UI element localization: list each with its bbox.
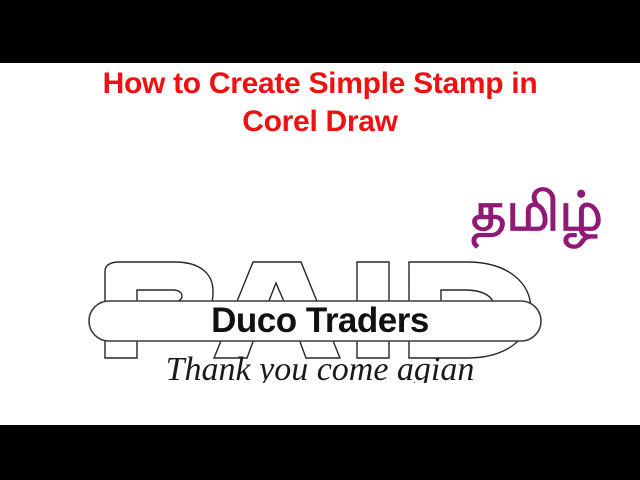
stamp-tagline: Thank you come agian [166, 351, 475, 383]
video-frame: How to Create Simple Stamp in Corel Draw… [0, 0, 640, 480]
white-canvas: How to Create Simple Stamp in Corel Draw… [0, 63, 640, 425]
letterbox-bar-top [0, 0, 640, 63]
title-line-1: How to Create Simple Stamp in [0, 65, 640, 103]
letterbox-bar-bottom [0, 425, 640, 480]
title-line-2: Corel Draw [0, 103, 640, 141]
tutorial-title: How to Create Simple Stamp in Corel Draw [0, 65, 640, 141]
stamp-company-name: Duco Traders [211, 301, 429, 340]
stamp-artwork: Duco Traders Thank you come agian [75, 198, 565, 383]
